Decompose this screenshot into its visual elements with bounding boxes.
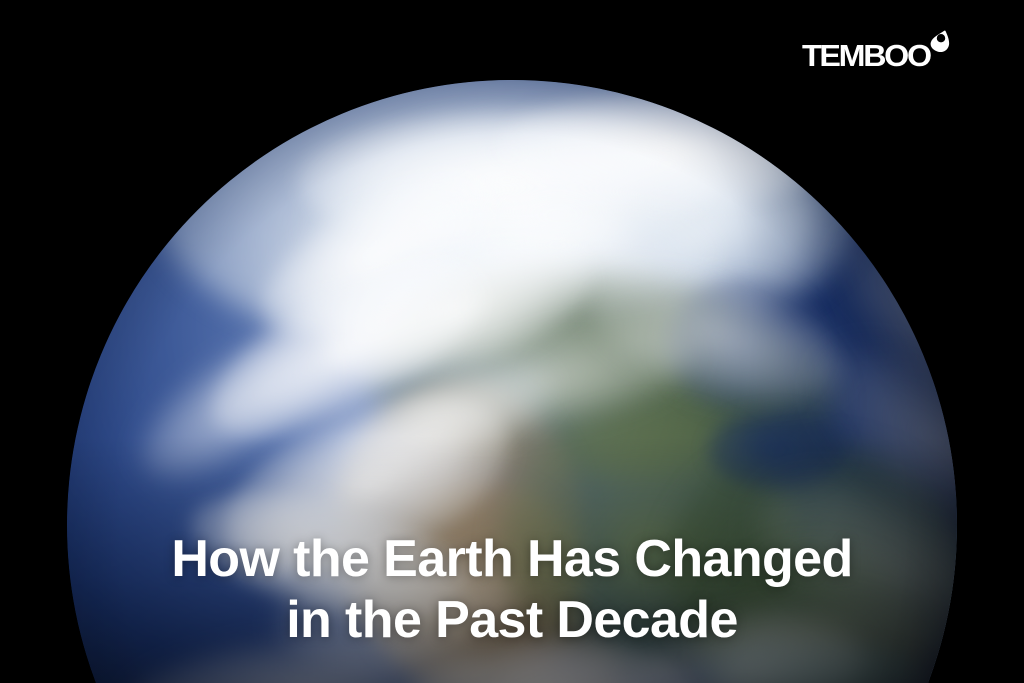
title-line-1: How the Earth Has Changed xyxy=(0,529,1024,590)
title-line-2: in the Past Decade xyxy=(0,590,1024,651)
hero-banner: TEMBOO How the Earth Has Changed in the … xyxy=(0,0,1024,683)
temboo-logo[interactable]: TEMBOO xyxy=(802,40,952,71)
temboo-wordmark: TEMBOO xyxy=(802,40,930,71)
temboo-teardrop-pin-icon xyxy=(930,29,952,58)
page-title: How the Earth Has Changed in the Past De… xyxy=(0,529,1024,652)
